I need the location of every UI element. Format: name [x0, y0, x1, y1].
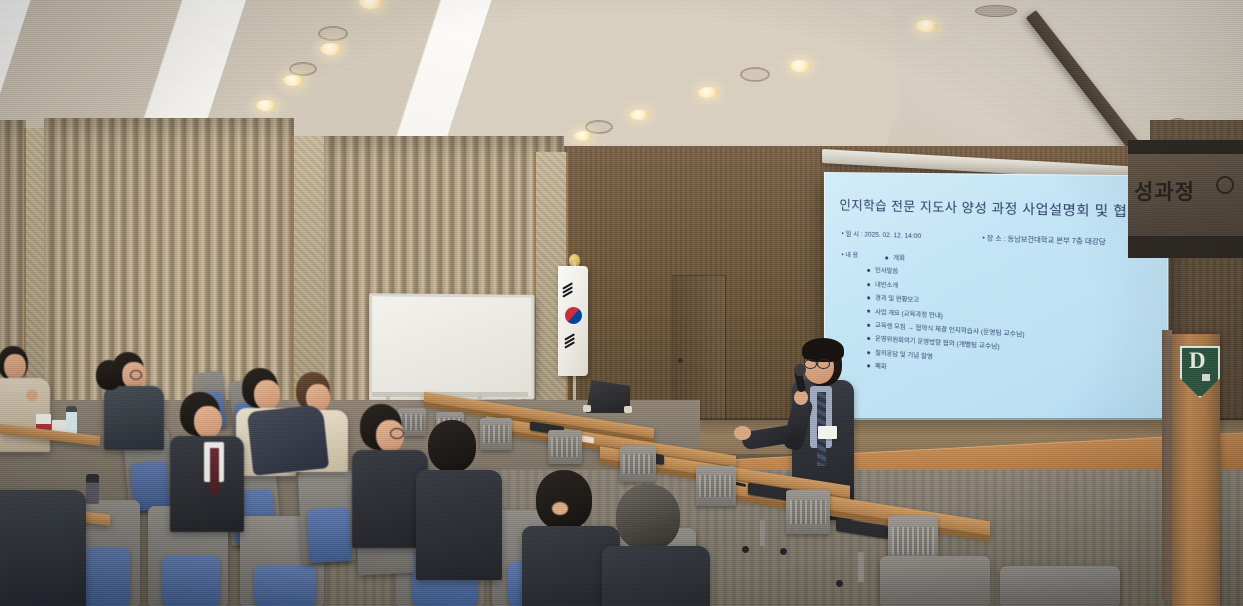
- office-chair[interactable]: [696, 466, 736, 506]
- office-chair[interactable]: [620, 446, 656, 482]
- ceiling-vent: [975, 5, 1017, 17]
- office-chair[interactable]: [548, 430, 582, 464]
- downlight-ring: [740, 67, 770, 82]
- glasses-icon: [817, 359, 830, 369]
- downlight-ring: [318, 26, 348, 41]
- downlight-ring: [289, 62, 317, 76]
- downlight: [256, 100, 276, 111]
- auditorium-seat[interactable]: [880, 556, 990, 606]
- tumbler[interactable]: [86, 474, 99, 504]
- slide-agenda-label: • 내 용: [841, 252, 858, 260]
- downlight: [916, 20, 938, 32]
- taeguk-symbol: [562, 304, 585, 327]
- auditorium-seat[interactable]: [1000, 566, 1120, 606]
- downlight: [790, 60, 811, 72]
- downlight: [698, 87, 718, 98]
- slide-meta: • 일 시 : 2025. 02. 12. 14:00 • 장 소 : 동남보건…: [840, 227, 1150, 247]
- downlight: [320, 43, 342, 55]
- slide-place-line: • 장 소 : 동남보건대학교 본부 7층 대강당: [982, 232, 1105, 247]
- seat-cushion: [162, 556, 220, 606]
- office-chair[interactable]: [480, 418, 512, 450]
- banner-text: 성과정: [1134, 176, 1195, 206]
- downlight: [283, 75, 304, 86]
- wall-banner: 성과정: [1128, 140, 1243, 258]
- draped-coat: [247, 404, 329, 476]
- slide-agenda: • 내 용 개회 인사말씀 내빈소개 경과 및 현황보고 사업 개요 (교육과정…: [840, 250, 1150, 392]
- microphone-head: [794, 364, 806, 376]
- presenter-open-hand: [734, 426, 751, 440]
- name-badge: [818, 426, 837, 439]
- shield-accent: [1202, 374, 1210, 381]
- slide-title: 인지학습 전문 지도사 양성 과정 사업설명회 및 협약식: [840, 194, 1150, 221]
- whiteboard[interactable]: [369, 293, 534, 401]
- seat-cushion: [254, 566, 316, 606]
- south-korean-flag: [558, 266, 588, 376]
- water-bottle[interactable]: [66, 406, 77, 434]
- downlight: [574, 131, 592, 141]
- seat-cushion: [307, 507, 352, 563]
- glasses-icon: [804, 359, 817, 369]
- banner-mark-icon: [1216, 176, 1234, 194]
- office-chair[interactable]: [786, 490, 830, 534]
- slide-date-line: • 일 시 : 2025. 02. 12. 14:00: [841, 228, 921, 241]
- presenter-hand: [794, 390, 808, 405]
- pillar-edge: [1162, 330, 1172, 600]
- downlight: [630, 110, 649, 120]
- shield-letter: D: [1189, 348, 1206, 374]
- auditorium-photo: 인지학습 전문 지도사 양성 과정 사업설명회 및 협약식 • 일 시 : 20…: [0, 0, 1243, 606]
